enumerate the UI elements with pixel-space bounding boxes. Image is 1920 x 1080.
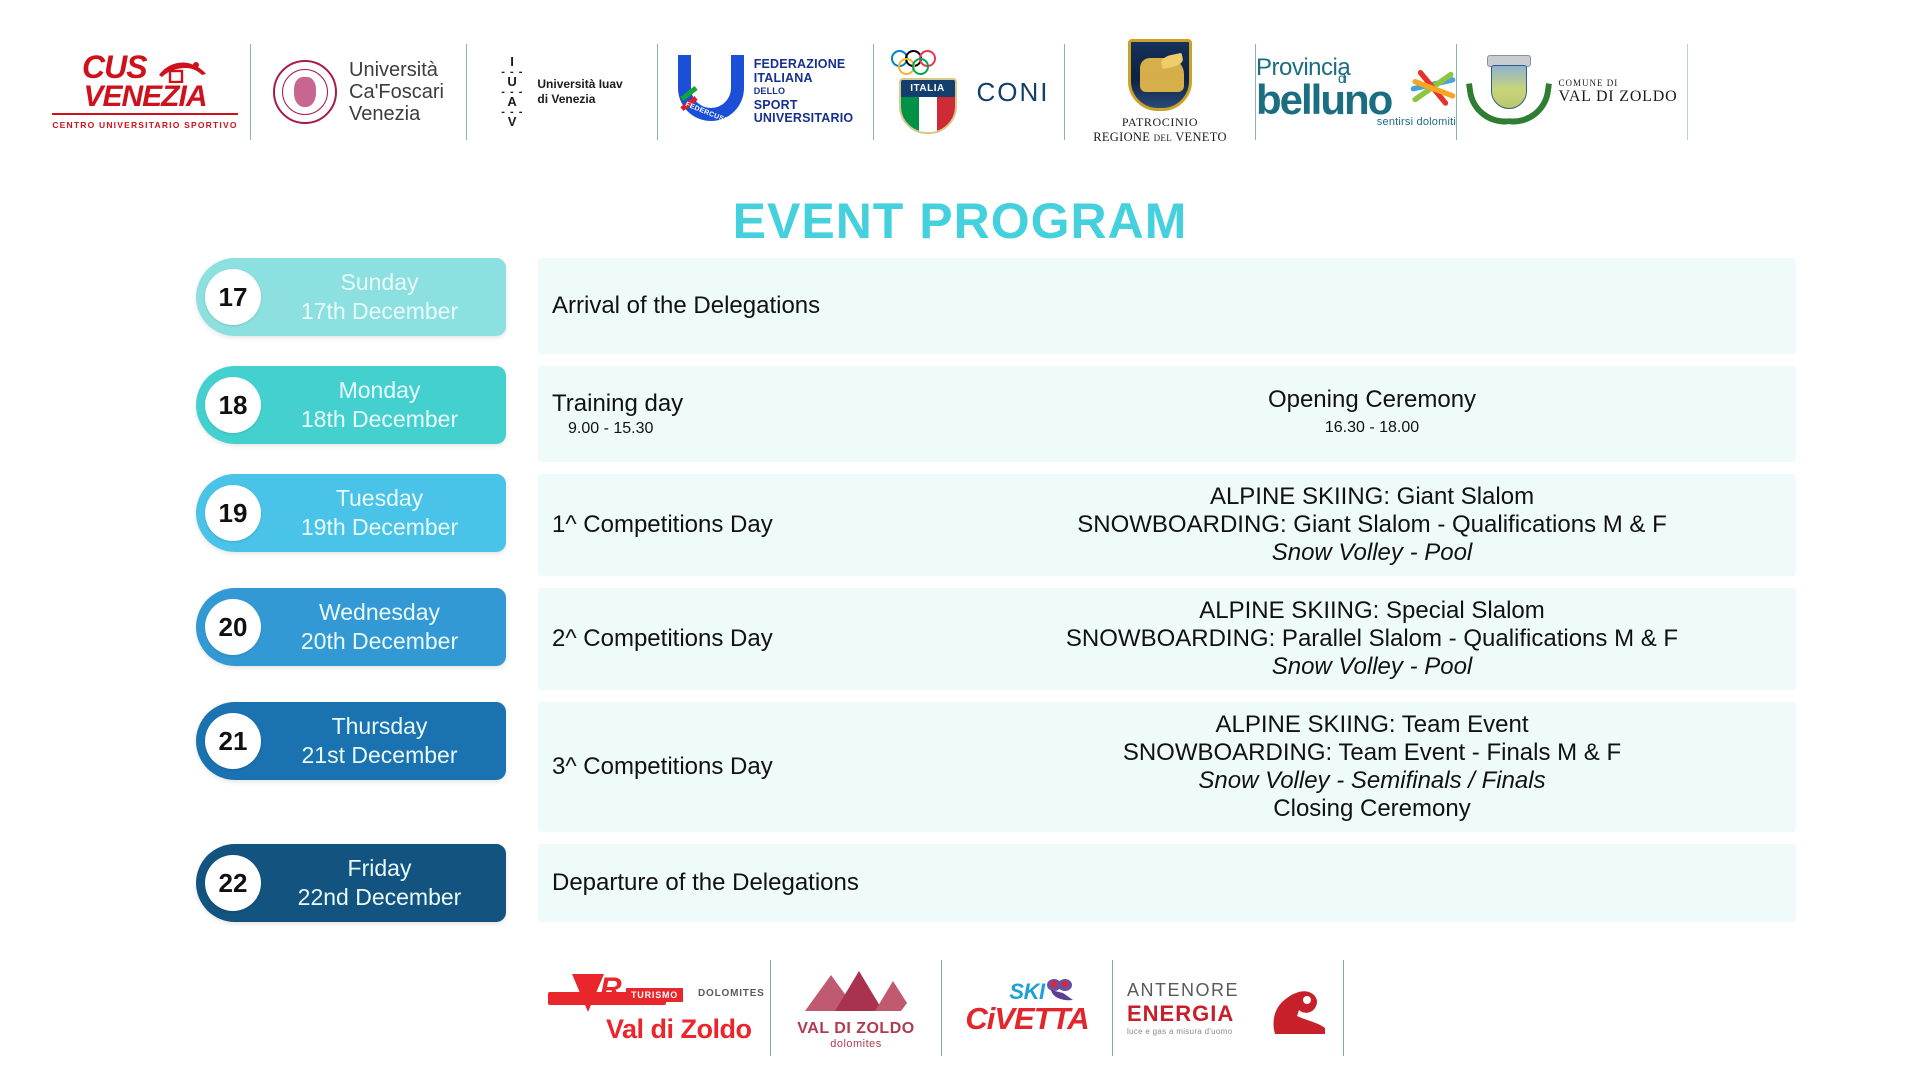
day-of-week: Tuesday xyxy=(261,484,498,513)
activity-left: 3^ Competitions Day xyxy=(552,753,773,780)
iuav-letter-v: V xyxy=(501,117,523,127)
day-date: 17th December xyxy=(261,297,498,326)
logo-turismo-val-di-zoldo: R TURISMO DOLOMITES Val di Zoldo xyxy=(540,960,770,1056)
veneto-line2c: VENETO xyxy=(1175,130,1227,144)
logo-ca-foscari: Università Ca'Foscari Venezia xyxy=(251,37,466,147)
fed-line5: UNIVERSITARIO xyxy=(754,112,854,126)
belluno-wordmark: belluno xyxy=(1256,76,1391,123)
vdz-title: VAL DI ZOLDO xyxy=(797,1020,914,1038)
val-di-zoldo-name: Val di Zoldo xyxy=(548,1014,768,1045)
day-number: 22 xyxy=(205,855,261,911)
schedule-row: 18 Monday 18th December Training day 9.0… xyxy=(196,366,1796,462)
veneto-line1: PATROCINIO xyxy=(1093,115,1227,130)
coni-wordmark: CONI xyxy=(977,77,1050,108)
olympic-rings-icon xyxy=(891,50,965,76)
day-date: 22nd December xyxy=(261,883,498,912)
activity-left: Departure of the Delegations xyxy=(552,869,859,896)
day-of-week: Sunday xyxy=(261,268,498,297)
val-di-zoldo-crest-icon xyxy=(1467,51,1551,133)
logo-provincia-belluno: Provincia belluno di sentirsi dolomiti xyxy=(1256,37,1456,147)
day-of-week: Friday xyxy=(261,854,498,883)
footer-logo-strip: R TURISMO DOLOMITES Val di Zoldo VAL DI … xyxy=(540,952,1480,1064)
row-content: 1^ Competitions Day ALPINE SKIING: Giant… xyxy=(538,474,1796,576)
activity-right: Snow Volley - Pool xyxy=(968,653,1776,681)
activity-right: Opening Ceremony xyxy=(968,386,1776,414)
row-content: Training day 9.00 - 15.30 Opening Ceremo… xyxy=(538,366,1796,462)
antenore-tagline: luce e gas a misura d'uomo xyxy=(1127,1027,1239,1036)
activity-right-time: 16.30 - 18.00 xyxy=(968,414,1776,442)
day-pill-18[interactable]: 18 Monday 18th December xyxy=(196,366,506,444)
day-number: 17 xyxy=(205,269,261,325)
turismo-vz-mark-icon: R TURISMO DOLOMITES xyxy=(548,972,768,1012)
veneto-line2b: DEL xyxy=(1154,133,1172,143)
schedule-row: 21 Thursday 21st December 3^ Competition… xyxy=(196,702,1796,832)
schedule-row: 20 Wednesday 20th December 2^ Competitio… xyxy=(196,588,1796,690)
civetta-name: CiVETTA xyxy=(947,1001,1107,1037)
day-date: 18th December xyxy=(261,405,498,434)
italia-shield-icon: ITALIA xyxy=(899,78,957,134)
coni-shield-text: ITALIA xyxy=(901,80,955,97)
vdz-subtitle: dolomites xyxy=(797,1038,914,1050)
fed-line4: SPORT xyxy=(754,99,854,113)
belluno-di: di xyxy=(1338,58,1345,98)
fed-line3: DELLO xyxy=(754,85,854,99)
footer-divider xyxy=(1343,960,1344,1056)
schedule-list: 17 Sunday 17th December Arrival of the D… xyxy=(196,258,1796,922)
logo-antenore-energia: ANTENORE ENERGIA luce e gas a misura d'u… xyxy=(1113,960,1343,1056)
schedule-row: 19 Tuesday 19th December 1^ Competitions… xyxy=(196,474,1796,576)
comune-label: COMUNE DI xyxy=(1559,78,1678,88)
logo-iuav: I - - - U - - - A - - - V Università Iua… xyxy=(467,37,657,147)
day-date: 21st December xyxy=(261,741,498,770)
day-of-week: Monday xyxy=(261,376,498,405)
activity-right: ALPINE SKIING: Team Event xyxy=(968,711,1776,739)
belluno-star-icon xyxy=(1406,62,1460,112)
cafoscari-line3: Venezia xyxy=(349,103,444,125)
logo-val-di-zoldo-dolomites: VAL DI ZOLDO dolomites xyxy=(771,960,941,1056)
iuav-line1: Università Iuav xyxy=(537,77,622,92)
day-number: 20 xyxy=(205,599,261,655)
mountain-icon xyxy=(801,967,911,1011)
day-number: 19 xyxy=(205,485,261,541)
day-date: 20th December xyxy=(261,627,498,656)
day-number: 18 xyxy=(205,377,261,433)
cus-line2: VENEZIA xyxy=(52,83,237,110)
activity-left-time: 9.00 - 15.30 xyxy=(552,420,968,438)
logo-divider xyxy=(1687,44,1688,140)
activity-right: Closing Ceremony xyxy=(968,795,1776,823)
veneto-lion-crest-icon xyxy=(1128,39,1192,111)
day-number: 21 xyxy=(205,713,261,769)
schedule-row: 17 Sunday 17th December Arrival of the D… xyxy=(196,258,1796,354)
cus-divider xyxy=(52,113,237,115)
iuav-line2: di Venezia xyxy=(537,92,622,107)
page-title: EVENT PROGRAM xyxy=(0,192,1920,250)
ca-foscari-seal-icon xyxy=(273,60,337,124)
antenore-line1: ANTENORE xyxy=(1127,980,1239,1001)
activity-left: Training day xyxy=(552,390,683,417)
federcusi-u-icon: FEDERCUSI xyxy=(678,55,744,129)
veneto-line2a: REGIONE xyxy=(1093,130,1150,144)
schedule-row: 22 Friday 22nd December Departure of the… xyxy=(196,844,1796,922)
activity-left: 2^ Competitions Day xyxy=(552,625,773,652)
activity-left: Arrival of the Delegations xyxy=(552,292,820,319)
logo-ski-civetta: SKI CiVETTA xyxy=(942,960,1112,1056)
cafoscari-line2: Ca'Foscari xyxy=(349,81,444,103)
logo-comune-val-di-zoldo: COMUNE DI VAL DI ZOLDO xyxy=(1457,37,1687,147)
dolomites-label: DOLOMITES xyxy=(698,988,765,999)
activity-right: SNOWBOARDING: Giant Slalom - Qualificati… xyxy=(968,511,1776,539)
cus-lion-icon xyxy=(156,59,208,83)
activity-right: Snow Volley - Pool xyxy=(968,539,1776,567)
lion-icon xyxy=(1245,976,1329,1040)
row-content: 2^ Competitions Day ALPINE SKIING: Speci… xyxy=(538,588,1796,690)
antenore-line2: ENERGIA xyxy=(1127,1001,1239,1027)
day-pill-22[interactable]: 22 Friday 22nd December xyxy=(196,844,506,922)
logo-regione-veneto: PATROCINIO REGIONE DEL VENETO xyxy=(1065,37,1255,147)
cafoscari-line1: Università xyxy=(349,59,444,81)
day-of-week: Wednesday xyxy=(261,598,498,627)
logo-coni: ITALIA CONI xyxy=(874,37,1064,147)
cus-subtitle: CENTRO UNIVERSITARIO SPORTIVO xyxy=(52,120,237,130)
event-program-page: CUS VENEZIA CENTRO UNIVERSITARIO SPORTIV… xyxy=(0,0,1920,1080)
activity-right: SNOWBOARDING: Parallel Slalom - Qualific… xyxy=(968,625,1776,653)
row-content: Departure of the Delegations xyxy=(538,844,1796,922)
day-pill-17[interactable]: 17 Sunday 17th December xyxy=(196,258,506,336)
logo-cus-venezia: CUS VENEZIA CENTRO UNIVERSITARIO SPORTIV… xyxy=(40,37,250,147)
day-pill-20[interactable]: 20 Wednesday 20th December xyxy=(196,588,506,666)
owl-icon xyxy=(1043,977,1077,1003)
logo-federcusi: FEDERCUSI FEDERAZIONE ITALIANA DELLO SPO… xyxy=(658,37,873,147)
turismo-label: TURISMO xyxy=(626,988,683,1002)
day-of-week: Thursday xyxy=(261,712,498,741)
fed-line1: FEDERAZIONE xyxy=(754,58,854,72)
activity-left: 1^ Competitions Day xyxy=(552,511,773,538)
activity-right: ALPINE SKIING: Special Slalom xyxy=(968,597,1776,625)
comune-name: VAL DI ZOLDO xyxy=(1559,88,1678,106)
day-pill-21[interactable]: 21 Thursday 21st December xyxy=(196,702,506,780)
activity-right: ALPINE SKIING: Giant Slalom xyxy=(968,483,1776,511)
day-date: 19th December xyxy=(261,513,498,542)
row-content: Arrival of the Delegations xyxy=(538,258,1796,354)
activity-right: Snow Volley - Semifinals / Finals xyxy=(968,767,1776,795)
day-pill-19[interactable]: 19 Tuesday 19th December xyxy=(196,474,506,552)
iuav-mark-icon: I - - - U - - - A - - - V xyxy=(501,57,523,127)
activity-right: SNOWBOARDING: Team Event - Finals M & F xyxy=(968,739,1776,767)
header-logo-strip: CUS VENEZIA CENTRO UNIVERSITARIO SPORTIV… xyxy=(40,32,1890,152)
row-content: 3^ Competitions Day ALPINE SKIING: Team … xyxy=(538,702,1796,832)
fed-line2: ITALIANA xyxy=(754,72,854,86)
